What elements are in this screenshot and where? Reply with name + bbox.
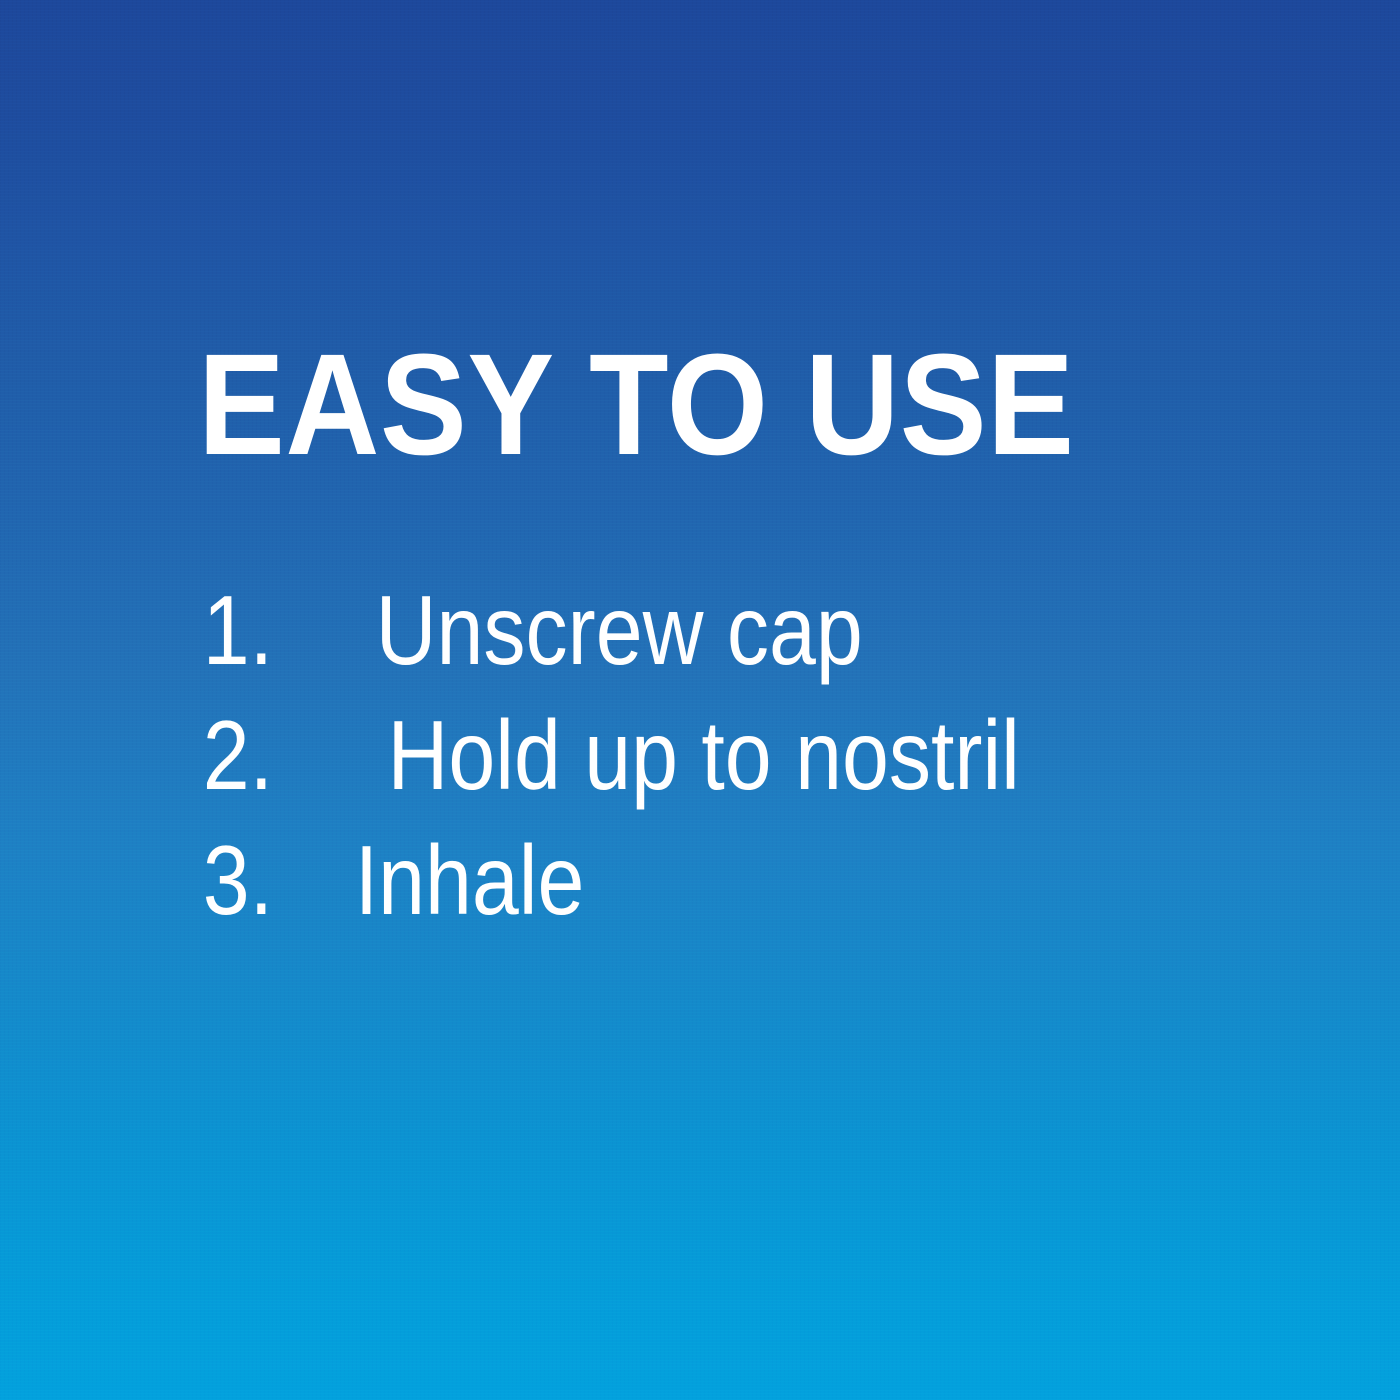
step-label: Hold up to nostril bbox=[387, 703, 1019, 807]
instruction-panel: EASY TO USE 1. Unscrew cap 2. Hold up to… bbox=[0, 0, 1400, 1400]
page-title: EASY TO USE bbox=[198, 330, 1103, 480]
list-item: 1. Unscrew cap bbox=[196, 578, 1296, 703]
list-item: 2. Hold up to nostril bbox=[196, 703, 1296, 828]
instruction-steps-list: 1. Unscrew cap 2. Hold up to nostril 3. … bbox=[196, 578, 1296, 953]
step-label: Inhale bbox=[355, 828, 585, 932]
step-number: 2. bbox=[203, 703, 286, 807]
panel-content: EASY TO USE 1. Unscrew cap 2. Hold up to… bbox=[0, 0, 1400, 1400]
list-item: 3. Inhale bbox=[196, 828, 1296, 953]
step-number: 3. bbox=[203, 828, 286, 932]
step-number: 1. bbox=[203, 578, 286, 682]
step-label: Unscrew cap bbox=[376, 578, 863, 682]
